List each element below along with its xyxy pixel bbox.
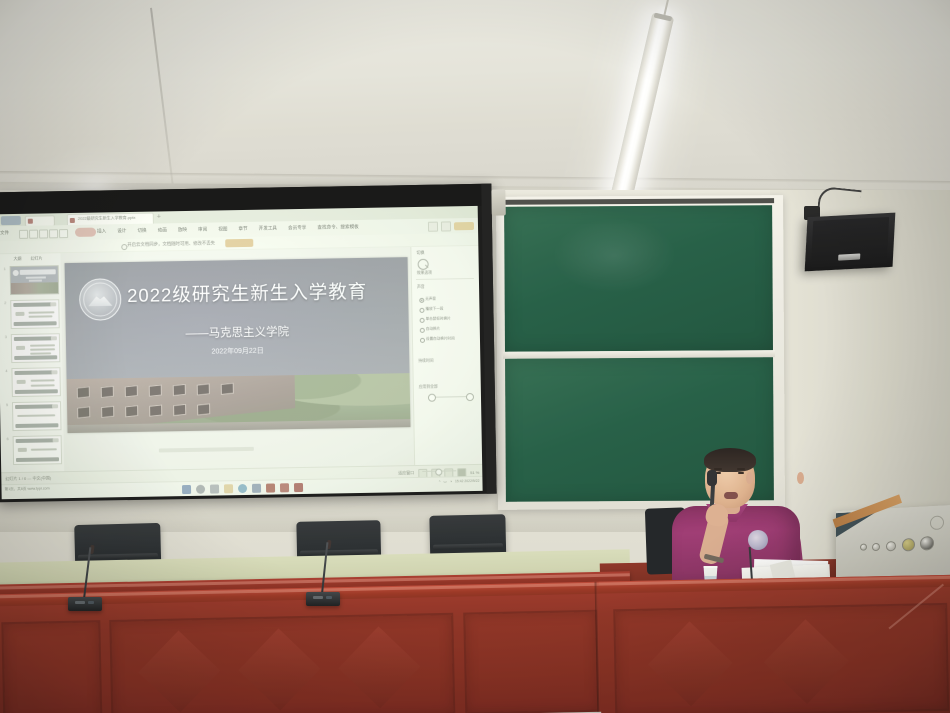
lecture-hall-photo: 2022级研究生新生入学教育.pptx + 文件 插入 设计 切换 动画 放映: [0, 0, 950, 713]
ribbon-search-hint[interactable]: 查找命令、搜索模板: [317, 224, 358, 231]
slide-photo: [67, 373, 411, 433]
gooseneck-microphone-2: [306, 540, 342, 606]
console-knob-1[interactable]: [860, 543, 867, 550]
slide-thumbnail-4[interactable]: 4: [11, 367, 60, 397]
microphone-head-icon: [707, 470, 717, 486]
taskbar-note-text: 第1页，共6页 www.typr.com: [4, 486, 49, 491]
ribbon-tab-list[interactable]: 插入 设计 切换 动画 放映 审阅 视图 章节 开发工具 会员专享 查找命令、搜…: [97, 224, 359, 235]
qat-preview-icon[interactable]: [39, 229, 48, 238]
slide-thumbnail-1[interactable]: 1: [10, 265, 59, 295]
task-pane-group-label: 声音: [417, 285, 425, 290]
tray-volume-icon[interactable]: ◑: [450, 480, 452, 484]
search-icon[interactable]: [195, 484, 204, 493]
transition-option-label-1: 播放下一段: [425, 307, 443, 312]
tab-slides[interactable]: 幻灯片: [30, 256, 42, 262]
ceiling-seam: [0, 171, 950, 184]
view-fit-label[interactable]: 适应窗口: [398, 470, 414, 476]
thumb-number-3: 3: [5, 335, 7, 339]
zoom-level-label[interactable]: 51 %: [470, 469, 479, 474]
status-left-text: 幻灯片 1 / 6 — 中文(中国): [5, 475, 51, 482]
edge-icon[interactable]: [237, 483, 246, 492]
task-pane-section-0: 持续时间: [418, 359, 433, 364]
ribbon-tab-7[interactable]: 章节: [238, 226, 247, 232]
presenter-hair: [704, 448, 756, 472]
console-knob-4[interactable]: [902, 538, 915, 552]
file-explorer-icon[interactable]: [181, 484, 190, 493]
slide-background: [65, 257, 410, 379]
radio-icon[interactable]: [419, 308, 424, 313]
tray-network-icon[interactable]: ▭: [443, 480, 446, 484]
slide-thumbnail-pane[interactable]: 大纲 幻灯片 1 2 3: [0, 253, 65, 473]
transition-task-pane[interactable]: 切换 效果选项 声音 无声音 播放下一段 单击鼠标时换片: [410, 246, 482, 466]
ribbon-tab-4[interactable]: 放映: [178, 227, 187, 233]
qat-redo-icon[interactable]: [59, 229, 68, 238]
ribbon-tab-1[interactable]: 设计: [117, 228, 126, 234]
thumb-number-6: 6: [7, 437, 9, 441]
transition-option-label-4: 设置自动换片时间: [426, 336, 455, 342]
gooseneck-microphone-1: [68, 545, 104, 611]
taskbar-clock[interactable]: 15:42 2022/9/22: [455, 479, 480, 484]
shirt-emblem: [748, 530, 768, 550]
podium-front-right: [599, 574, 950, 713]
blackboard-top-rail: [502, 198, 774, 205]
ribbon-tab-3[interactable]: 动画: [158, 227, 167, 233]
powerpoint-icon[interactable]: [265, 483, 274, 492]
home-button[interactable]: [1, 216, 21, 225]
tray-chevron-icon[interactable]: ^: [439, 480, 441, 484]
notes-placeholder[interactable]: [159, 447, 254, 453]
collapse-ribbon-icon[interactable]: [428, 222, 438, 232]
zoom-slider-knob[interactable]: [435, 468, 442, 475]
taskbar-app-icons[interactable]: [181, 483, 302, 494]
blackboard-panel-upper: [504, 205, 773, 352]
pdf-icon[interactable]: [293, 483, 302, 492]
wps-icon[interactable]: [279, 483, 288, 492]
slide-thumbnail-5[interactable]: 5: [12, 401, 61, 431]
screen-mount-hook: [491, 189, 505, 215]
wall-mounted-speaker: [805, 213, 896, 272]
pptx-icon: [70, 217, 75, 222]
slide-title: 2022级研究生新生入学教育: [127, 277, 400, 308]
task-pane-title: 切换: [416, 250, 424, 256]
console-logo: [930, 515, 944, 530]
qat-undo-icon[interactable]: [49, 229, 58, 238]
transition-option-label-2: 单击鼠标时换片: [426, 316, 451, 321]
radio-icon[interactable]: [420, 328, 425, 333]
current-slide[interactable]: 2022级研究生新生入学教育 ——马克思主义学院 2022年09月22日: [65, 257, 411, 433]
folder-icon[interactable]: [223, 484, 232, 493]
podium-panel-2: [109, 613, 455, 713]
new-tab-button[interactable]: +: [157, 213, 161, 220]
console-knob-2[interactable]: [872, 543, 880, 551]
presenter-mouth: [724, 492, 738, 499]
thumb-number-1: 1: [4, 267, 6, 271]
thumb-number-5: 5: [6, 403, 8, 407]
task-pane-section-1[interactable]: 应用到全部: [419, 385, 438, 390]
radio-icon[interactable]: [420, 338, 425, 343]
ribbon-right-controls[interactable]: [428, 221, 474, 232]
podium-panel-3: [463, 610, 599, 713]
transition-option-label-0: 无声音: [425, 297, 436, 302]
ceiling: [0, 0, 950, 196]
ribbon-tab-0[interactable]: 插入: [97, 228, 106, 234]
help-icon[interactable]: [441, 221, 451, 231]
document-tab-label: 2022级研究生新生入学教育.pptx: [78, 215, 136, 222]
speed-slider[interactable]: [428, 392, 472, 401]
ribbon-tab-6[interactable]: 视图: [218, 226, 227, 232]
projected-desktop[interactable]: 2022级研究生新生入学教育.pptx + 文件 插入 设计 切换 动画 放映: [0, 206, 483, 499]
qat-print-icon[interactable]: [29, 229, 38, 238]
slide-thumbnail-3[interactable]: 3: [11, 333, 60, 363]
radio-icon[interactable]: [420, 318, 425, 323]
cloud-sync-text: 开启云文档同步，文档随时可用、修改不丢失: [127, 240, 215, 248]
speaker-badge: [838, 253, 860, 260]
ceiling-seam: [150, 8, 175, 193]
task-pane-subtitle: 效果选项: [417, 271, 432, 276]
slide-thumbnail-6[interactable]: 6: [13, 435, 62, 465]
widgets-icon[interactable]: [209, 484, 218, 493]
file-menu-button[interactable]: 文件: [0, 230, 9, 236]
slide-canvas-area[interactable]: 2022级研究生新生入学教育 ——马克思主义学院 2022年09月22日: [60, 247, 415, 472]
cloud-sync-button[interactable]: [225, 239, 253, 247]
upgrade-button[interactable]: [454, 222, 474, 230]
store-icon[interactable]: [251, 483, 260, 492]
ribbon-tab-2[interactable]: 切换: [137, 228, 146, 234]
radio-icon[interactable]: [419, 298, 424, 303]
ribbon-tab-5[interactable]: 审阅: [198, 227, 207, 233]
projection-screen: 2022级研究生新生入学教育.pptx + 文件 插入 设计 切换 动画 放映: [0, 184, 497, 503]
taskbar-tray[interactable]: ^ ▭ ◑ 15:42 2022/9/22: [439, 479, 480, 484]
thumb-number-2: 2: [4, 301, 6, 305]
ribbon-tab-9[interactable]: 会员专享: [288, 225, 306, 231]
qat-save-icon[interactable]: [19, 229, 28, 238]
podium-panel-1: [1, 620, 102, 713]
tab-outline[interactable]: 大纲: [13, 256, 21, 262]
thumbnail-pane-tabs[interactable]: 大纲 幻灯片: [13, 256, 42, 263]
refresh-icon[interactable]: [418, 259, 429, 270]
transition-option-label-3: 自动换片: [426, 327, 440, 332]
ribbon-tab-8[interactable]: 开发工具: [259, 225, 277, 231]
active-ribbon-tab[interactable]: [75, 228, 96, 237]
thumb-number-4: 4: [5, 369, 7, 373]
slide-thumbnail-2[interactable]: 2: [10, 299, 59, 329]
console-knob-5[interactable]: [920, 536, 934, 551]
console-knob-3[interactable]: [886, 541, 896, 552]
